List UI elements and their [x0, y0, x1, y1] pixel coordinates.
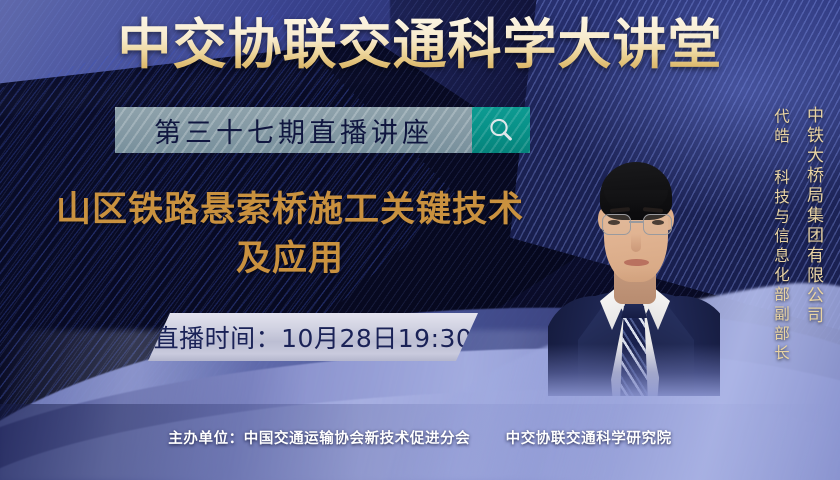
- portrait-hair-fringe: [604, 190, 668, 210]
- portrait-lens-right: [643, 214, 672, 235]
- session-badge-label: 第三十七期直播讲座: [154, 111, 433, 150]
- speaker-name-title: 代皓 科技与信息化部副部长: [770, 108, 792, 364]
- live-time-text: 直播时间：10月28日19:30: [154, 319, 473, 355]
- search-icon: [472, 107, 530, 153]
- lecture-title-line2: 及应用: [30, 235, 550, 284]
- portrait-glasses: [600, 214, 672, 236]
- session-badge: 第三十七期直播讲座: [115, 107, 530, 153]
- portrait-bottom-fade: [548, 344, 720, 396]
- portrait-lens-bridge: [629, 221, 643, 223]
- live-time-banner: 直播时间：10月28日19:30: [148, 313, 478, 361]
- portrait-lens-left: [602, 214, 631, 235]
- portrait-mouth: [624, 259, 649, 266]
- session-badge-body: 第三十七期直播讲座: [115, 107, 472, 153]
- lecture-title-line1: 山区铁路悬索桥施工关键技术: [56, 190, 524, 230]
- portrait-nose: [631, 234, 641, 252]
- speaker-organization: 中铁大桥局集团有限公司: [801, 106, 826, 326]
- main-title: 中交协联交通科学大讲堂: [0, 16, 840, 74]
- webinar-poster: 中交协联交通科学大讲堂 第三十七期直播讲座 山区铁路悬索桥施工关键技术 及应用 …: [0, 0, 840, 480]
- lecture-title: 山区铁路悬索桥施工关键技术 及应用: [30, 186, 550, 284]
- footer-organizers: 主办单位：中国交通运输协会新技术促进分会 中交协联交通科学研究院: [0, 427, 840, 448]
- footer-organizer-primary: 主办单位：中国交通运输协会新技术促进分会: [168, 431, 470, 447]
- speaker-portrait: [548, 96, 720, 396]
- footer-organizer-secondary: 中交协联交通科学研究院: [506, 431, 672, 447]
